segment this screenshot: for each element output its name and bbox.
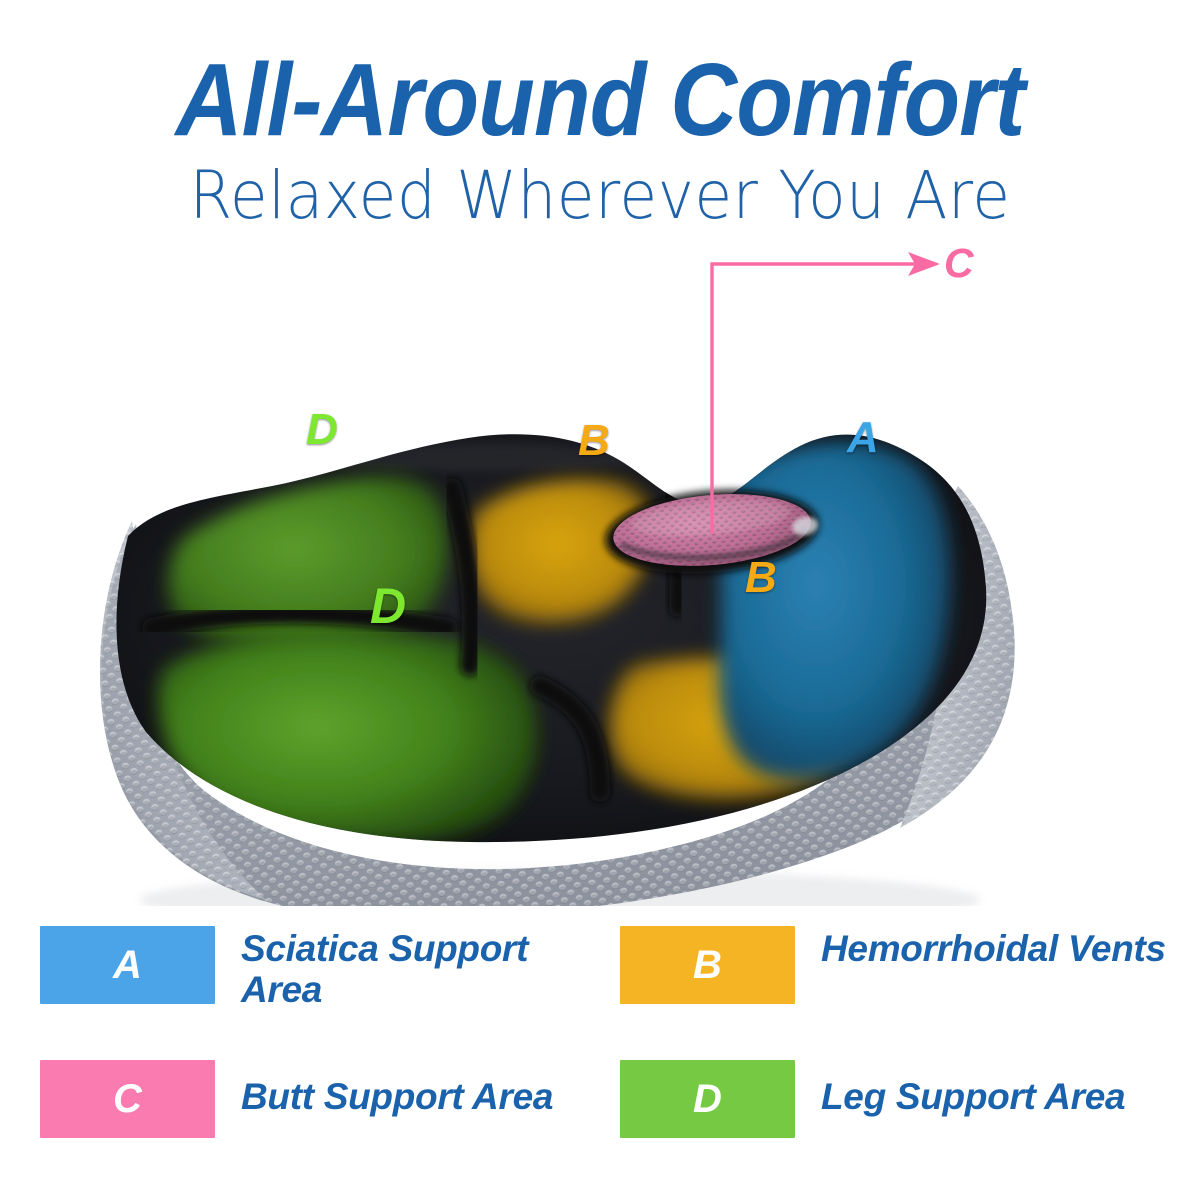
product-image: D D B B A C [0, 236, 1200, 906]
legend-item-b[interactable]: B Hemorrhoidal Vents [620, 926, 1166, 1004]
legend-key-a: A [113, 945, 142, 985]
legend-item-a[interactable]: A Sciatica Support Area [40, 926, 601, 1011]
legend-key-b: B [693, 945, 722, 985]
legend-key-c: C [113, 1079, 142, 1119]
legend-item-d[interactable]: D Leg Support Area [620, 1060, 1125, 1138]
page-subtitle: Relaxed Wherever You Are [42, 163, 1158, 229]
legend-key-d: D [693, 1079, 722, 1119]
legend-swatch-d: D [620, 1060, 795, 1138]
zone-label-b-lower: B [745, 556, 777, 600]
page-title: All-Around Comfort [60, 48, 1140, 151]
legend-swatch-b: B [620, 926, 795, 1004]
cushion-illustration [0, 236, 1200, 906]
zone-label-d-upper: D [306, 408, 338, 452]
legend-label-d: Leg Support Area [821, 1060, 1125, 1117]
zone-label-d-lower: D [370, 581, 406, 631]
legend-label-a: Sciatica Support Area [241, 926, 601, 1011]
infographic-root: All-Around Comfort Relaxed Wherever You … [0, 0, 1200, 1200]
zone-label-b-upper: B [578, 419, 610, 463]
zone-label-a: A [847, 416, 879, 460]
legend-item-c[interactable]: C Butt Support Area [40, 1060, 553, 1138]
legend: A Sciatica Support Area B Hemorrhoidal V… [0, 915, 1200, 1175]
legend-label-b: Hemorrhoidal Vents [821, 926, 1166, 969]
legend-swatch-a: A [40, 926, 215, 1004]
legend-label-c: Butt Support Area [241, 1060, 553, 1117]
legend-swatch-c: C [40, 1060, 215, 1138]
callout-label-c: C [944, 243, 974, 284]
